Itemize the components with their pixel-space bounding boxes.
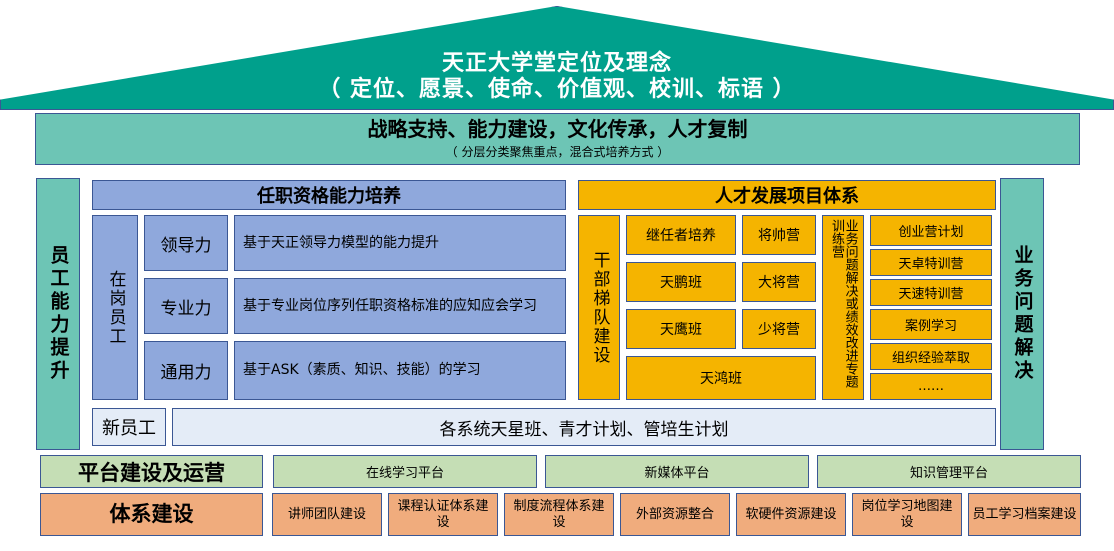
system-item-instructor-team[interactable]: 讲师团队建设 bbox=[272, 493, 382, 536]
strategy-band-line2: （ 分层分类聚焦重点，混合式培养方式 ） bbox=[446, 143, 670, 160]
program-tianpeng-class[interactable]: 天鹏班 bbox=[626, 262, 736, 302]
cadre-echelon-label: 干部梯队建设 bbox=[591, 251, 608, 365]
program-successor[interactable]: 继任者培养 bbox=[626, 215, 736, 255]
onjob-employee-label-box: 在岗员工 bbox=[92, 215, 138, 400]
strategy-band: 战略支持、能力建设，文化传承，人才复制 （ 分层分类聚焦重点，混合式培养方式 ） bbox=[35, 113, 1080, 165]
system-item-course-certification[interactable]: 课程认证体系建设 bbox=[388, 493, 498, 536]
right-item-tiansu-camp[interactable]: 天速特训营 bbox=[870, 279, 992, 306]
platform-item-knowledge-management[interactable]: 知识管理平台 bbox=[817, 455, 1081, 488]
qualification-header: 任职资格能力培养 bbox=[92, 180, 566, 210]
right-item-case-study[interactable]: 案例学习 bbox=[870, 309, 992, 340]
right-pillar-label: 业务问题解决 bbox=[1013, 245, 1032, 383]
program-tianying-class[interactable]: 天鹰班 bbox=[626, 309, 736, 349]
onjob-employee-label: 在岗员工 bbox=[107, 270, 124, 346]
talent-header: 人才发展项目体系 bbox=[578, 180, 996, 210]
system-item-hardware-software[interactable]: 软硬件资源建设 bbox=[736, 493, 846, 536]
strategy-band-line1: 战略支持、能力建设，文化传承，人才复制 bbox=[368, 118, 748, 140]
program-tianhong-class[interactable]: 天鸿班 bbox=[626, 356, 816, 400]
program-major-general-camp[interactable]: 大将营 bbox=[742, 262, 816, 302]
new-employee-label: 新员工 bbox=[92, 408, 166, 446]
capability-professional[interactable]: 专业力 bbox=[144, 278, 228, 334]
pyramid-diagram: 天正大学堂定位及理念 （ 定位、愿景、使命、价值观、校训、标语 ） 战略支持、能… bbox=[0, 0, 1114, 551]
right-item-experience-extraction[interactable]: 组织经验萃取 bbox=[870, 343, 992, 370]
roof-text: 天正大学堂定位及理念 （ 定位、愿景、使命、价值观、校训、标语 ） bbox=[318, 51, 795, 109]
roof-banner: 天正大学堂定位及理念 （ 定位、愿景、使命、价值观、校训、标语 ） bbox=[0, 6, 1114, 110]
right-item-startup-camp[interactable]: 创业营计划 bbox=[870, 215, 992, 246]
capability-leadership-desc: 基于天正领导力模型的能力提升 bbox=[234, 215, 566, 271]
right-item-ellipsis[interactable]: …… bbox=[870, 373, 992, 400]
capability-leadership[interactable]: 领导力 bbox=[144, 215, 228, 271]
platform-item-new-media[interactable]: 新媒体平台 bbox=[545, 455, 809, 488]
capability-professional-desc: 基于专业岗位序列任职资格标准的应知应会学习 bbox=[234, 278, 566, 334]
capability-general[interactable]: 通用力 bbox=[144, 341, 228, 400]
roof-title-line1: 天正大学堂定位及理念 bbox=[318, 51, 795, 77]
right-pillar-business-problem: 业务问题解决 bbox=[1000, 178, 1044, 450]
system-item-learning-archive[interactable]: 员工学习档案建设 bbox=[968, 493, 1081, 536]
capability-general-desc: 基于ASK（素质、知识、技能）的学习 bbox=[234, 341, 566, 400]
new-employee-description: 各系统天星班、青才计划、管培生计划 bbox=[172, 408, 996, 446]
system-item-job-learning-map[interactable]: 岗位学习地图建设 bbox=[852, 493, 962, 536]
program-junior-general-camp[interactable]: 少将营 bbox=[742, 309, 816, 349]
business-training-camp-box: 业务问题解决或绩效改进专题训练营 bbox=[822, 215, 864, 400]
platform-main-label: 平台建设及运营 bbox=[40, 455, 263, 488]
left-pillar-label: 员工能力提升 bbox=[49, 245, 68, 383]
system-item-external-resources[interactable]: 外部资源整合 bbox=[620, 493, 730, 536]
system-main-label: 体系建设 bbox=[40, 493, 263, 536]
system-item-process-system[interactable]: 制度流程体系建设 bbox=[504, 493, 614, 536]
cadre-echelon-label-box: 干部梯队建设 bbox=[578, 215, 620, 400]
program-general-camp[interactable]: 将帅营 bbox=[742, 215, 816, 255]
platform-item-online-learning[interactable]: 在线学习平台 bbox=[273, 455, 537, 488]
right-item-tianzhuo-camp[interactable]: 天卓特训营 bbox=[870, 249, 992, 276]
roof-title-line2: （ 定位、愿景、使命、价值观、校训、标语 ） bbox=[318, 77, 795, 103]
business-training-camp-label: 业务问题解决或绩效改进专题训练营 bbox=[829, 219, 856, 397]
left-pillar-employee-capability: 员工能力提升 bbox=[36, 178, 80, 450]
